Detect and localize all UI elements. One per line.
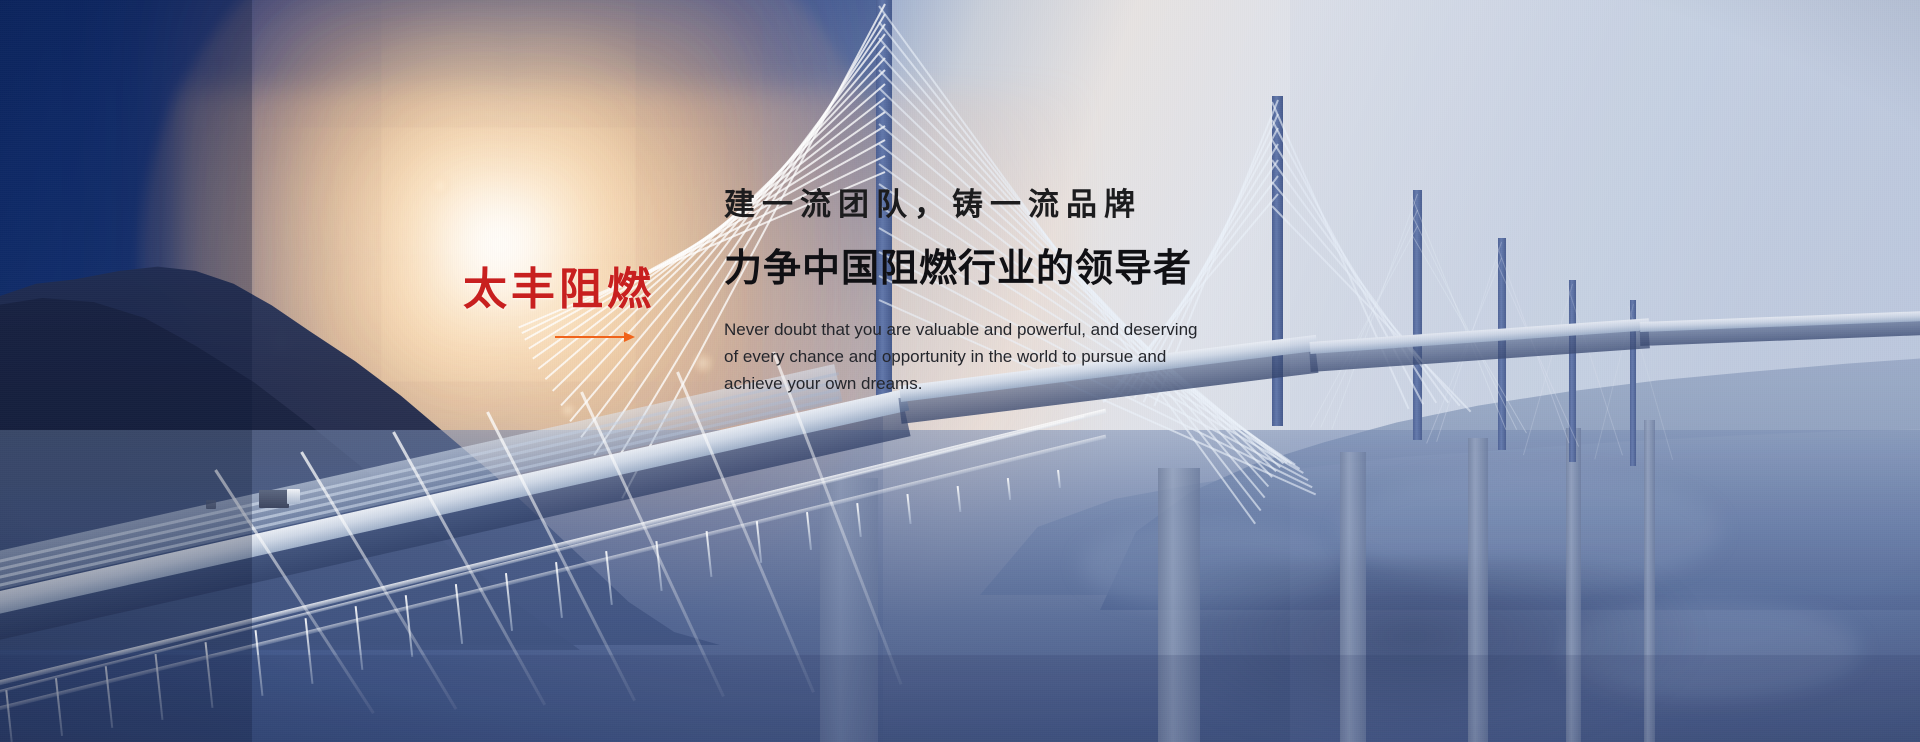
arrow-shaft (555, 336, 627, 338)
arrow-right-icon (555, 332, 635, 342)
brand-logo[interactable]: 太丰阻燃 (463, 268, 683, 342)
paragraph-line-1: Never doubt that you are valuable and po… (724, 316, 1304, 343)
banner-content: 太丰阻燃 建一流团队，铸一流品牌 力争中国阻燃行业的领导者 Never doub… (0, 0, 1920, 742)
arrow-head (624, 332, 635, 342)
banner-copy: 建一流团队，铸一流品牌 力争中国阻燃行业的领导者 Never doubt tha… (724, 186, 1344, 397)
hero-banner: 太丰阻燃 建一流团队，铸一流品牌 力争中国阻燃行业的领导者 Never doub… (0, 0, 1920, 742)
paragraph-line-3: achieve your own dreams. (724, 370, 1304, 397)
brand-logo-text: 太丰阻燃 (463, 268, 683, 312)
banner-headline: 建一流团队，铸一流品牌 (724, 186, 1344, 225)
paragraph-line-2: of every chance and opportunity in the w… (724, 343, 1304, 370)
banner-subheadline: 力争中国阻燃行业的领导者 (724, 247, 1344, 293)
banner-paragraph: Never doubt that you are valuable and po… (724, 316, 1304, 397)
